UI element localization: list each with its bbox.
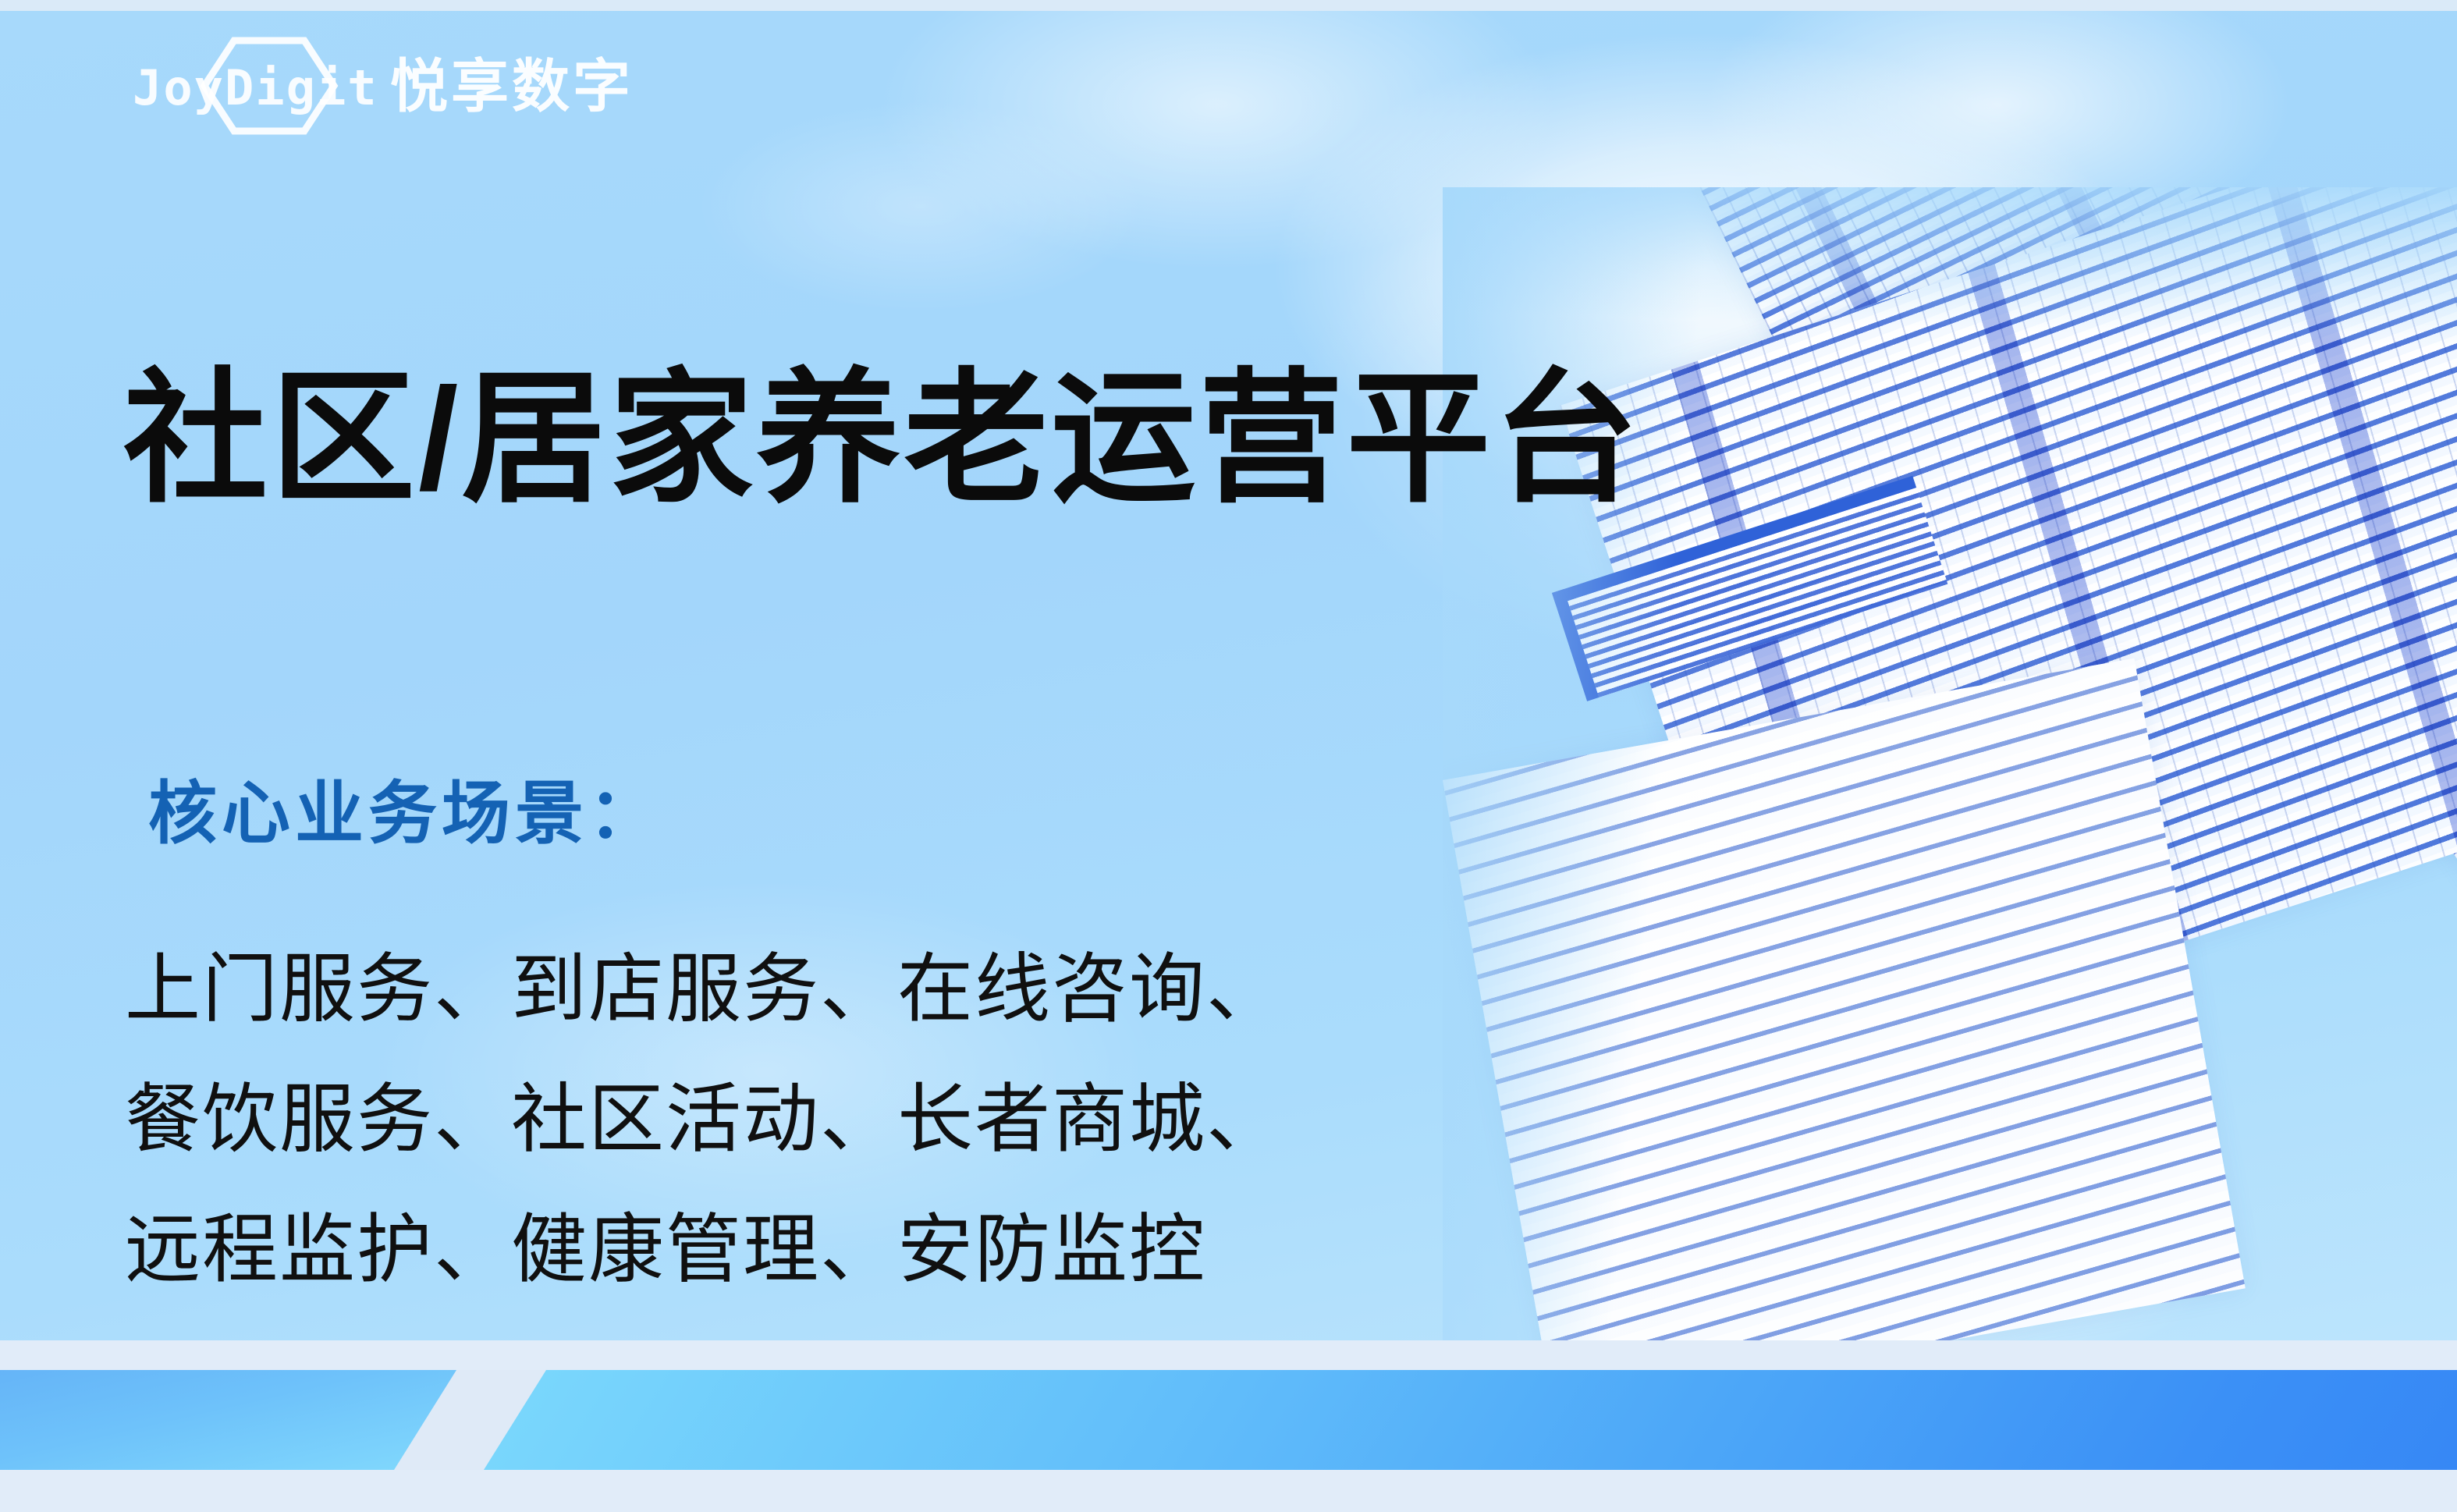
band-segment-right [484, 1370, 2457, 1470]
brand-logo: JoyDigit 悦享数字 [133, 41, 679, 134]
section-heading: 核心业务场景： [148, 772, 662, 855]
footer-decorative-band [0, 1340, 2457, 1512]
page-title: 社区/居家养老运营平台 [123, 354, 1641, 524]
scenario-line-1: 上门服务、到店服务、在线咨询、 [125, 925, 1284, 1055]
logo-wordmark-chinese: 悦享数字 [390, 58, 634, 115]
scenario-line-2: 餐饮服务、社区活动、长者商城、 [125, 1055, 1284, 1185]
slide-root: JoyDigit 悦享数字 社区/居家养老运营平台 核心业务场景： 上门服务、到… [0, 0, 2457, 1512]
logo-wordmark-latin: JoyDigit [133, 64, 378, 112]
scenario-line-3: 远程监护、健康管理、安防监控 [125, 1185, 1284, 1315]
scenario-list: 上门服务、到店服务、在线咨询、 餐饮服务、社区活动、长者商城、 远程监护、健康管… [125, 925, 1284, 1315]
